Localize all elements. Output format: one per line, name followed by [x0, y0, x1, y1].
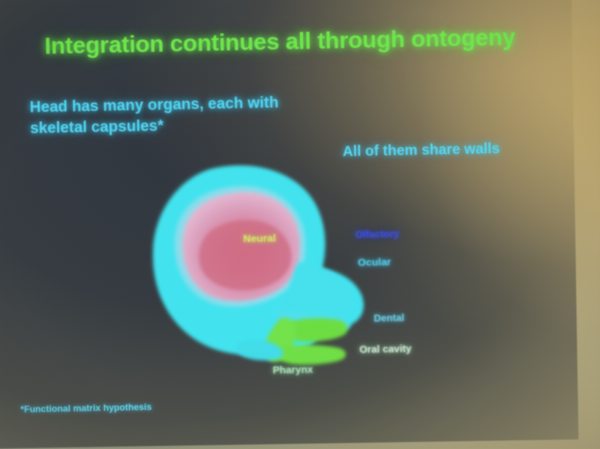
diagram-label-dental: Dental	[374, 313, 405, 325]
share-walls-note: All of them share walls	[342, 141, 499, 160]
dental-arch	[288, 318, 347, 342]
diagram-label-pharynx: Pharynx	[273, 365, 313, 377]
neural-cavity-core	[198, 219, 292, 291]
diagram-label-ocular: Ocular	[358, 256, 391, 269]
diagram-label-olfactory: Olfactory	[355, 229, 399, 241]
slide-subtitle: Head has many organs, each with skeletal…	[30, 93, 321, 140]
projected-slide-photo: Integration continues all through ontoge…	[0, 0, 600, 449]
hyoid-oral-floor	[272, 344, 346, 365]
slide-title: Integration continues all through ontoge…	[44, 23, 564, 60]
diagram-label-oral-cavity: Oral cavity	[359, 344, 411, 356]
diagram-label-neural: Neural	[243, 232, 276, 245]
slide-content-layer: Integration continues all through ontoge…	[0, 0, 600, 449]
slide-footnote: *Functional matrix hypothesis	[20, 402, 151, 415]
sagittal-skull-capsules-diagram	[147, 161, 381, 380]
